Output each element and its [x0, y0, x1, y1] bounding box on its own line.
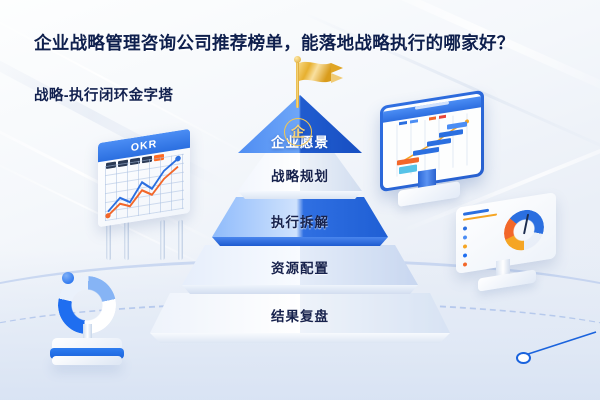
connector-line — [500, 330, 600, 380]
gauge-card-legend — [463, 226, 467, 272]
legend-dot — [463, 262, 467, 267]
okr-board-leg — [124, 220, 129, 261]
donut-base-bottom — [52, 356, 122, 365]
page-title: 企业战略管理咨询公司推荐榜单，能落地战略执行的哪家好？ — [34, 30, 515, 55]
legend-dot — [463, 244, 467, 249]
enterprise-badge-icon: 企 — [284, 118, 312, 146]
donut-accent-dot — [62, 272, 74, 284]
gauge-card — [456, 200, 560, 295]
path-node-icon — [516, 352, 531, 364]
legend-dot — [463, 235, 467, 240]
donut-sculpture — [40, 276, 140, 366]
legend-dot — [463, 226, 467, 231]
gold-flag-icon — [296, 56, 356, 108]
infographic-canvas: 企业战略管理咨询公司推荐榜单，能落地战略执行的哪家好？ 战略-执行闭环金字塔 O… — [0, 0, 600, 400]
legend-dot — [463, 253, 467, 258]
flag-cloth — [299, 61, 345, 91]
